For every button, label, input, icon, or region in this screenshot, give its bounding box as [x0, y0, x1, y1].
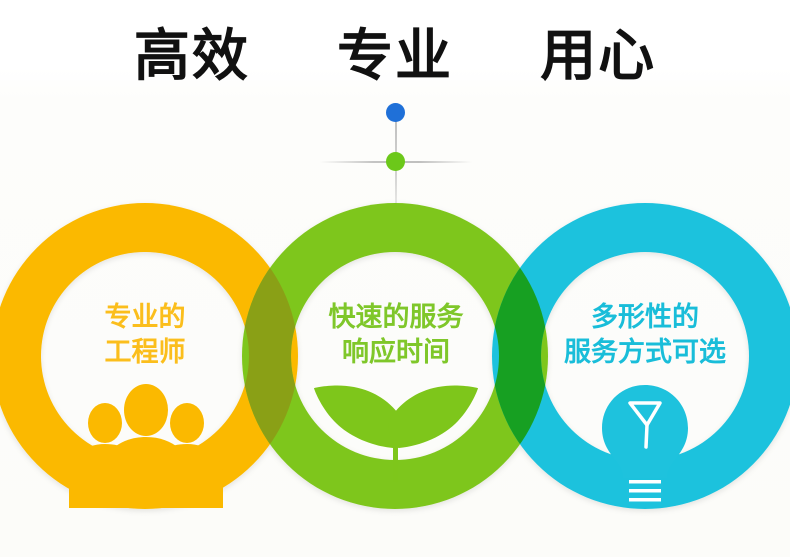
infographic-canvas: 高效 专业 用心 — [0, 0, 790, 557]
venn-diagram — [0, 0, 790, 557]
